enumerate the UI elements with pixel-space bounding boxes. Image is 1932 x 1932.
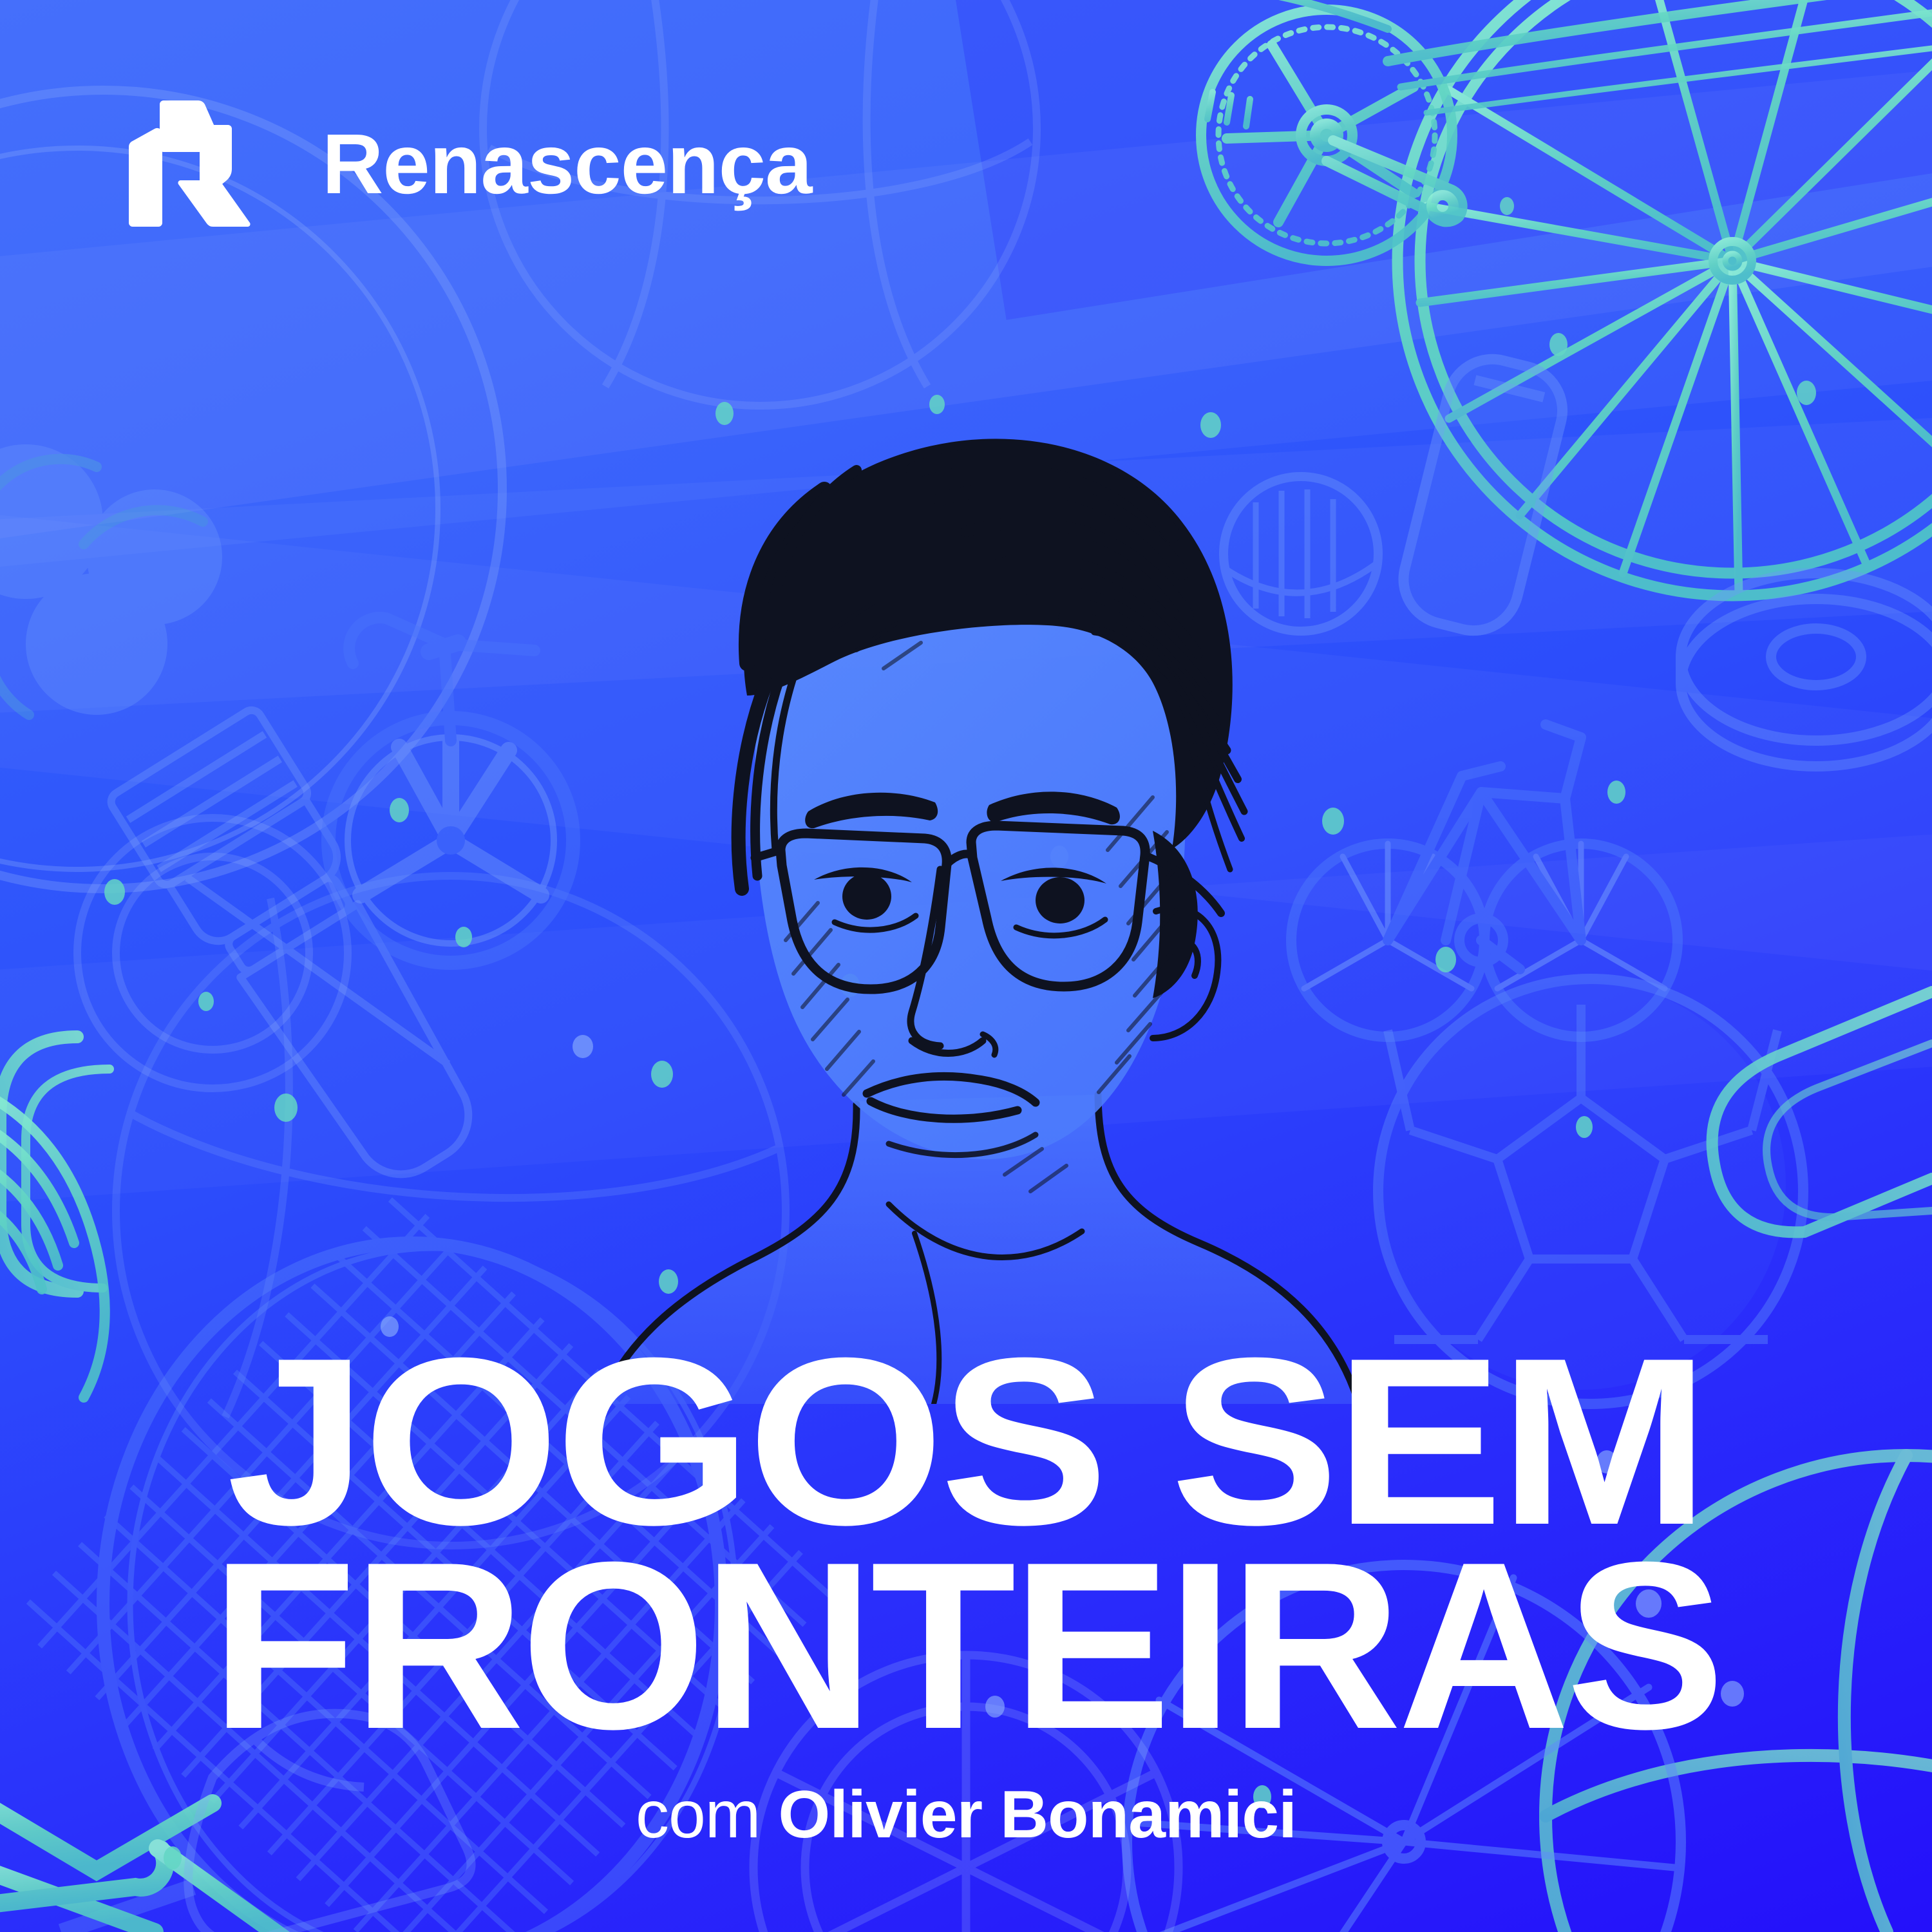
host-name: Olivier Bonamici xyxy=(778,1777,1296,1852)
title-block: JOGOS SEM FRONTEIRAS com Olivier Bonamic… xyxy=(0,1342,1932,1932)
wheel-faint-icon xyxy=(77,818,348,1088)
host-portrait-illustration xyxy=(554,361,1404,1404)
podcast-cover-art: Renascença JOGOS SEM FRONTEIRAS com Oliv… xyxy=(0,0,1932,1932)
renascenca-logo[interactable]: Renascença xyxy=(124,97,811,232)
host-byline: com Olivier Bonamici xyxy=(0,1781,1932,1848)
renascenca-wordmark: Renascença xyxy=(322,122,811,207)
renascenca-r-mark xyxy=(124,97,252,232)
show-title-line-2: FRONTEIRAS xyxy=(0,1546,1932,1747)
weight-plate-icon xyxy=(1681,573,1932,766)
byline-prefix: com xyxy=(636,1777,778,1852)
